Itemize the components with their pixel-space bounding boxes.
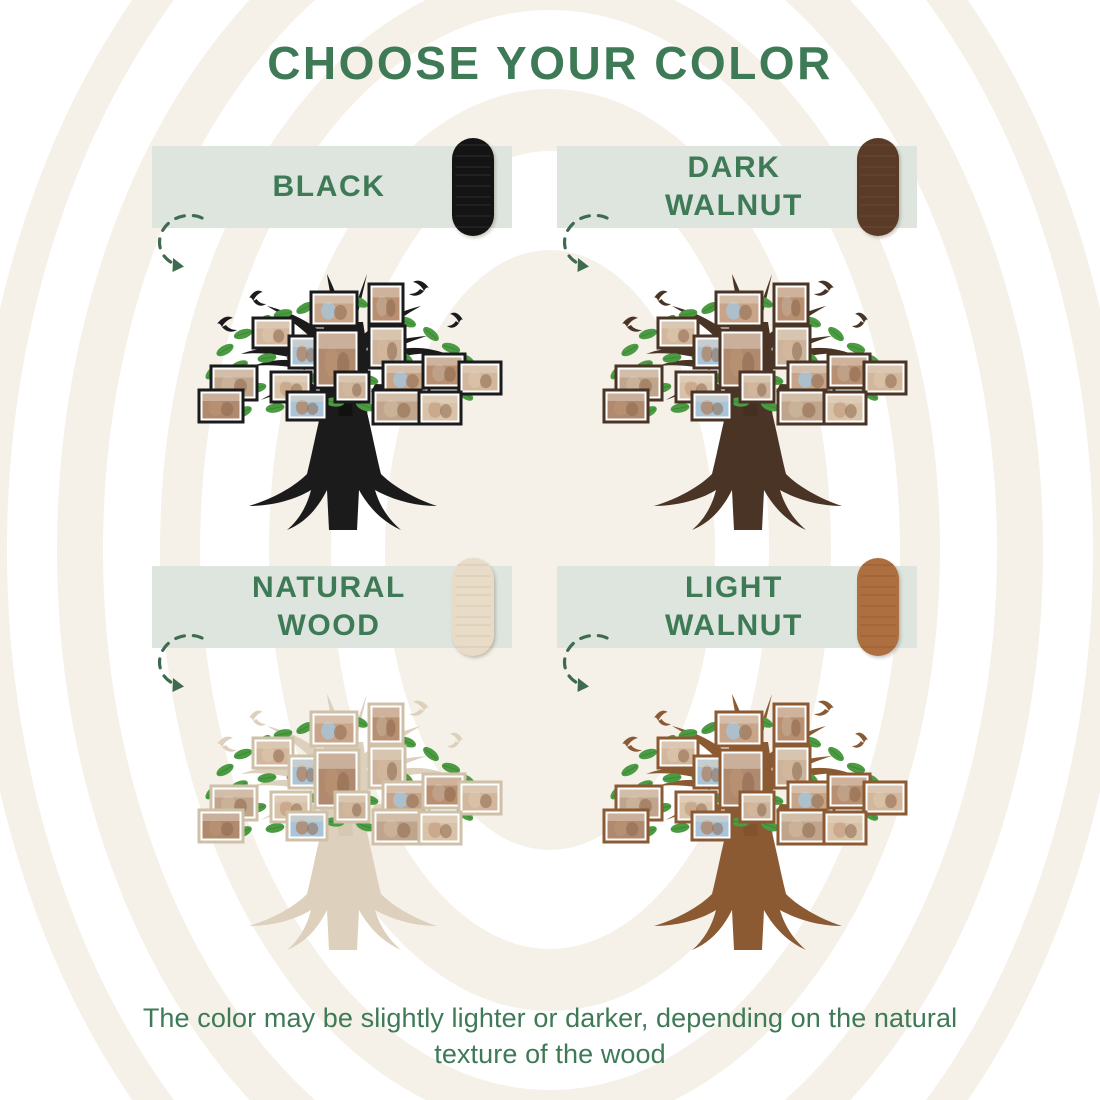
color-label-band: DARK WALNUT	[557, 146, 917, 228]
color-name-label: NATURAL WOOD	[252, 569, 412, 646]
wood-swatch-pill[interactable]	[452, 558, 494, 656]
disclaimer-note: The color may be slightly lighter or dar…	[100, 1000, 1000, 1072]
color-label-band: NATURAL WOOD	[152, 566, 512, 648]
dashed-curved-arrow-icon	[150, 628, 220, 700]
color-name-label: DARK WALNUT	[665, 149, 809, 226]
color-option-black[interactable]: BLACK	[152, 146, 512, 228]
tree-illustration-light-walnut	[588, 682, 908, 962]
wood-swatch-pill[interactable]	[857, 558, 899, 656]
tree-illustration-dark-walnut	[588, 262, 908, 542]
dashed-curved-arrow-icon	[150, 208, 220, 280]
color-option-dark-walnut[interactable]: DARK WALNUT	[557, 146, 917, 228]
color-option-natural-wood[interactable]: NATURAL WOOD	[152, 566, 512, 648]
dashed-curved-arrow-icon	[555, 628, 625, 700]
page-title: CHOOSE YOUR COLOR	[0, 36, 1100, 90]
wood-swatch-pill[interactable]	[857, 138, 899, 236]
color-name-label: BLACK	[273, 168, 392, 206]
dashed-curved-arrow-icon	[555, 208, 625, 280]
wood-swatch-pill[interactable]	[452, 138, 494, 236]
color-label-band: LIGHT WALNUT	[557, 566, 917, 648]
color-option-light-walnut[interactable]: LIGHT WALNUT	[557, 566, 917, 648]
tree-illustration-natural-wood	[183, 682, 503, 962]
color-label-band: BLACK	[152, 146, 512, 228]
color-name-label: LIGHT WALNUT	[665, 569, 809, 646]
tree-illustration-black	[183, 262, 503, 542]
